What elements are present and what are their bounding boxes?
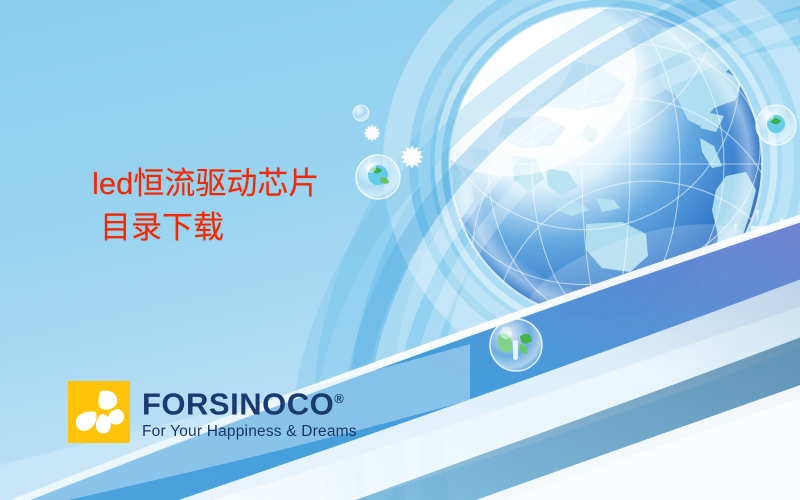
- logo-wordmark: FORSINOCO®: [142, 383, 357, 420]
- pinwheel-four-petal-icon: [68, 381, 130, 443]
- company-logo: FORSINOCO® For Your Happiness & Dreams: [68, 381, 357, 443]
- banner-canvas: led恒流驱动芯片 目录下载 FORSINOCO® For Your Happi…: [0, 0, 800, 500]
- bubble-with-globe: [356, 155, 400, 199]
- logo-wordmark-text: FORSINOCO: [142, 386, 334, 421]
- logo-text-block: FORSINOCO® For Your Happiness & Dreams: [142, 381, 357, 441]
- bubble-with-sprout: [490, 319, 542, 371]
- logo-tagline: For Your Happiness & Dreams: [142, 423, 357, 441]
- registered-trademark-icon: ®: [334, 391, 344, 406]
- bubble-with-globe-right: [756, 105, 796, 145]
- bubble-small-faint: [353, 105, 369, 121]
